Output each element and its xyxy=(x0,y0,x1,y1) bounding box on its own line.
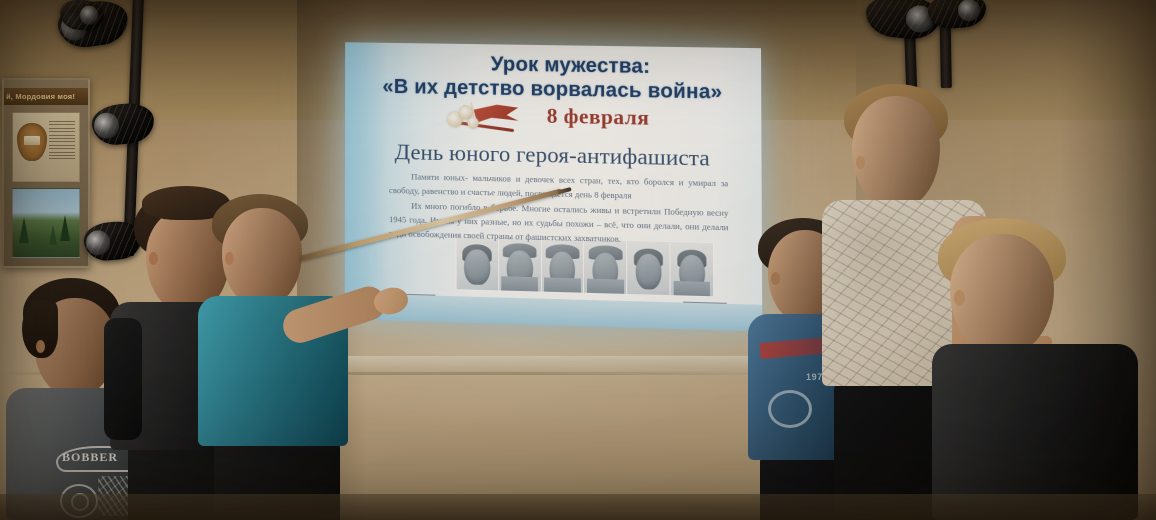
baseboard xyxy=(0,494,1156,520)
ear xyxy=(149,252,158,265)
head xyxy=(950,234,1054,354)
ear xyxy=(36,340,45,353)
tshirt-print-ring xyxy=(768,390,812,428)
ear xyxy=(771,272,780,285)
wall-poster-mordovia: й, Мордовия моя! xyxy=(2,78,90,268)
ear xyxy=(225,252,234,265)
slide-date: 8 февраля xyxy=(547,104,650,131)
hero-portrait xyxy=(627,241,669,295)
head xyxy=(852,96,940,208)
ribbon-carnation-icon xyxy=(447,104,526,140)
hero-portrait xyxy=(542,239,584,293)
poster-text-lines xyxy=(49,121,75,162)
head xyxy=(222,208,302,306)
hero-portrait xyxy=(584,240,626,294)
poster-banner-text: й, Мордовия моя! xyxy=(4,88,90,105)
hero-portrait xyxy=(499,238,541,292)
poster-landscape-photo xyxy=(12,188,80,258)
projection-screen: Урок мужества: «В их детство ворвалась в… xyxy=(345,42,762,331)
slide-body-text: Памяти юных- мальчиков и девочек всех ст… xyxy=(389,170,728,249)
portrait-rule-right xyxy=(683,301,727,304)
arm-left xyxy=(104,318,142,440)
ear xyxy=(856,156,865,169)
coat-of-arms-icon xyxy=(17,123,47,161)
classroom-scene: й, Мордовия моя! Урок мужества: «В их де… xyxy=(0,0,1156,520)
slide-date-row: 8 февраля xyxy=(359,100,747,154)
hero-portrait xyxy=(457,237,498,291)
poster-crest-card xyxy=(12,112,80,182)
boy-far-right xyxy=(932,228,1140,520)
slide-title: Урок мужества: «В их детство ворвалась в… xyxy=(359,50,747,105)
ear xyxy=(954,290,965,306)
hero-portrait xyxy=(671,242,714,296)
